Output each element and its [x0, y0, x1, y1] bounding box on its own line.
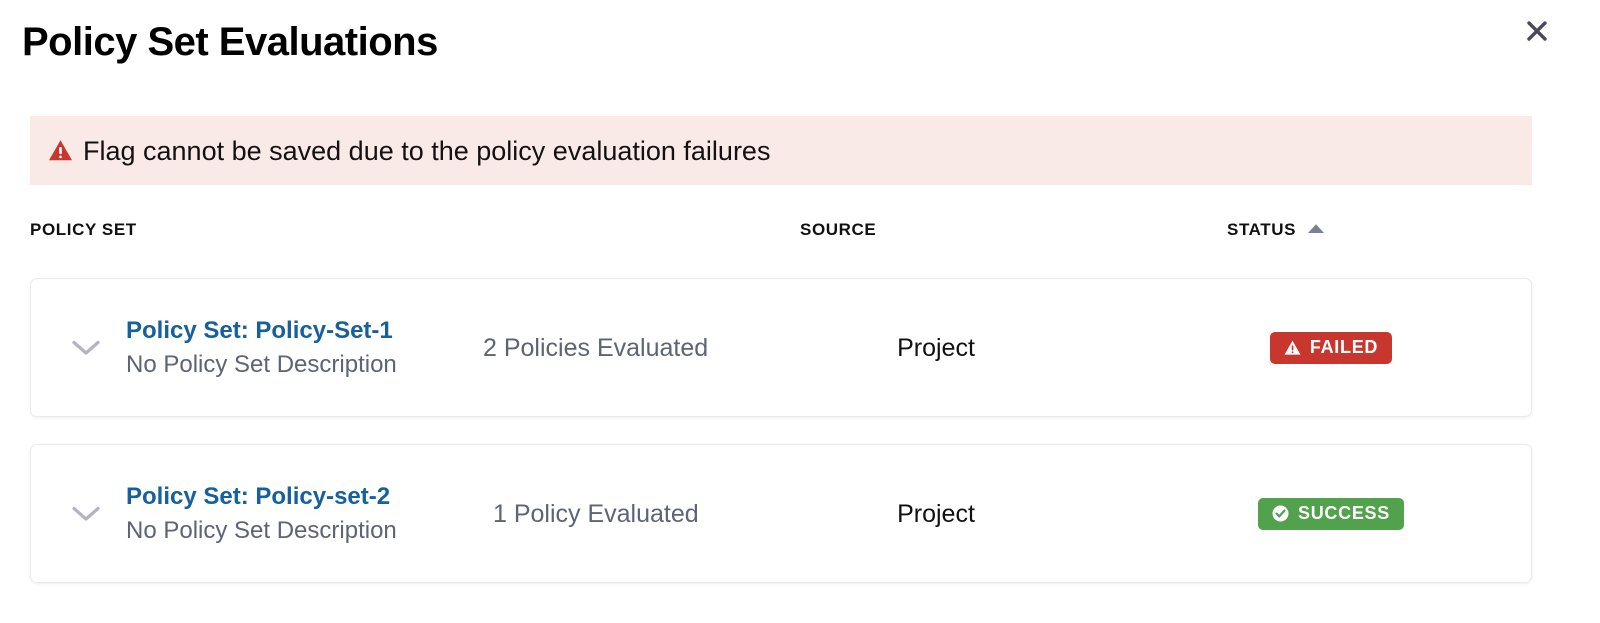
policy-set-link[interactable]: Policy Set: Policy-set-2: [126, 480, 456, 514]
table-header: POLICY SET SOURCE STATUS: [0, 218, 1600, 252]
column-header-status[interactable]: STATUS: [1227, 218, 1325, 242]
chevron-down-icon[interactable]: [69, 497, 103, 531]
policy-set-evaluations-dialog: Policy Set Evaluations Flag cannot be sa…: [0, 0, 1600, 623]
source-value: Project: [831, 497, 1041, 531]
status-cell: SUCCESS: [1221, 498, 1441, 530]
check-circle-icon: [1272, 505, 1289, 522]
page-title: Policy Set Evaluations: [22, 16, 438, 68]
warning-triangle-icon: [1284, 340, 1301, 356]
table-row[interactable]: Policy Set: Policy-set-2 No Policy Set D…: [30, 444, 1532, 583]
status-cell: FAILED: [1221, 332, 1441, 364]
column-header-policy-set: POLICY SET: [30, 218, 137, 242]
policy-set-cell: Policy Set: Policy-set-2 No Policy Set D…: [126, 480, 456, 548]
column-header-source: SOURCE: [800, 218, 876, 242]
policy-set-description: No Policy Set Description: [126, 514, 456, 548]
source-value: Project: [831, 331, 1041, 365]
column-header-status-label: STATUS: [1227, 218, 1296, 242]
policies-evaluated-count: 2 Policies Evaluated: [483, 331, 708, 365]
table-row[interactable]: Policy Set: Policy-Set-1 No Policy Set D…: [30, 278, 1532, 417]
close-icon: [1524, 18, 1550, 44]
policy-set-cell: Policy Set: Policy-Set-1 No Policy Set D…: [126, 314, 456, 382]
status-badge: SUCCESS: [1258, 498, 1404, 530]
sort-ascending-icon: [1307, 217, 1325, 241]
alert-message: Flag cannot be saved due to the policy e…: [83, 135, 770, 167]
close-button[interactable]: [1520, 14, 1554, 48]
policy-set-description: No Policy Set Description: [126, 348, 456, 382]
status-badge-label: FAILED: [1310, 337, 1378, 358]
status-badge-label: SUCCESS: [1298, 503, 1390, 524]
status-badge: FAILED: [1270, 332, 1392, 364]
warning-triangle-icon: [47, 138, 73, 164]
policy-failure-alert: Flag cannot be saved due to the policy e…: [30, 116, 1532, 185]
policies-evaluated-count: 1 Policy Evaluated: [493, 497, 699, 531]
policy-set-link[interactable]: Policy Set: Policy-Set-1: [126, 314, 456, 348]
chevron-down-icon[interactable]: [69, 331, 103, 365]
